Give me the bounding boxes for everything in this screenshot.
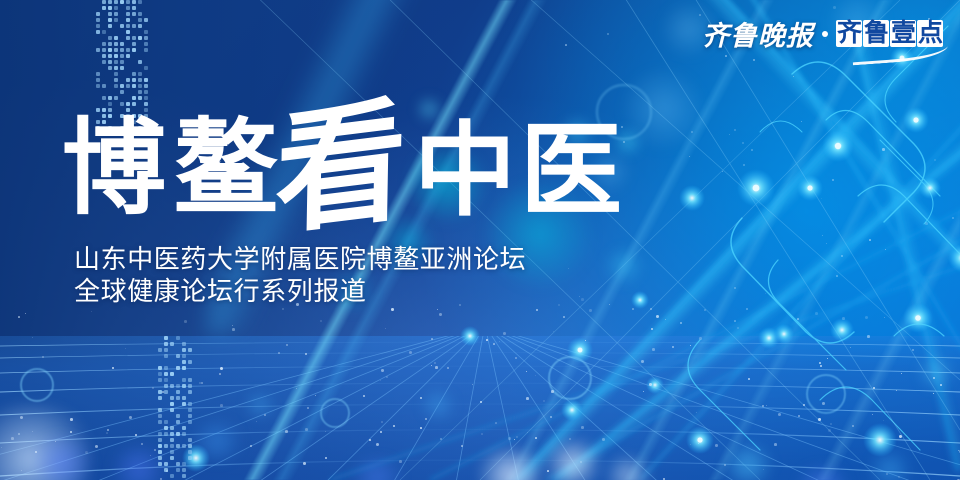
headline-char-1: 博 <box>62 106 166 229</box>
logo-separator-dot <box>822 31 828 37</box>
headline-char-4: 中 <box>414 111 516 231</box>
headline-char-3: 看 <box>274 81 408 254</box>
publisher-logo[interactable]: 齐鲁晚报 齐 鲁 壹 点 <box>702 14 944 53</box>
headline-char-2: 鳌 <box>174 106 278 229</box>
logo-brand-text: 齐鲁晚报 <box>702 14 814 53</box>
headline-char-5: 医 <box>520 111 622 231</box>
subtitle-line-1: 山东中医药大学附属医院博鳌亚洲论坛 <box>74 244 526 276</box>
subtitle-block: 山东中医药大学附属医院博鳌亚洲论坛 全球健康论坛行系列报道 <box>74 244 526 308</box>
headline-title: 博 鳌 看 中 医 <box>62 104 622 228</box>
headline-svg: 博 鳌 看 中 医 <box>62 104 622 228</box>
news-banner: 博 鳌 看 中 医 山东中医药大学附属医院博鳌亚洲论坛 全球健康论坛行系列报道 … <box>0 0 960 480</box>
dot-matrix-column-bottom <box>158 336 198 480</box>
subtitle-line-2: 全球健康论坛行系列报道 <box>74 276 526 308</box>
